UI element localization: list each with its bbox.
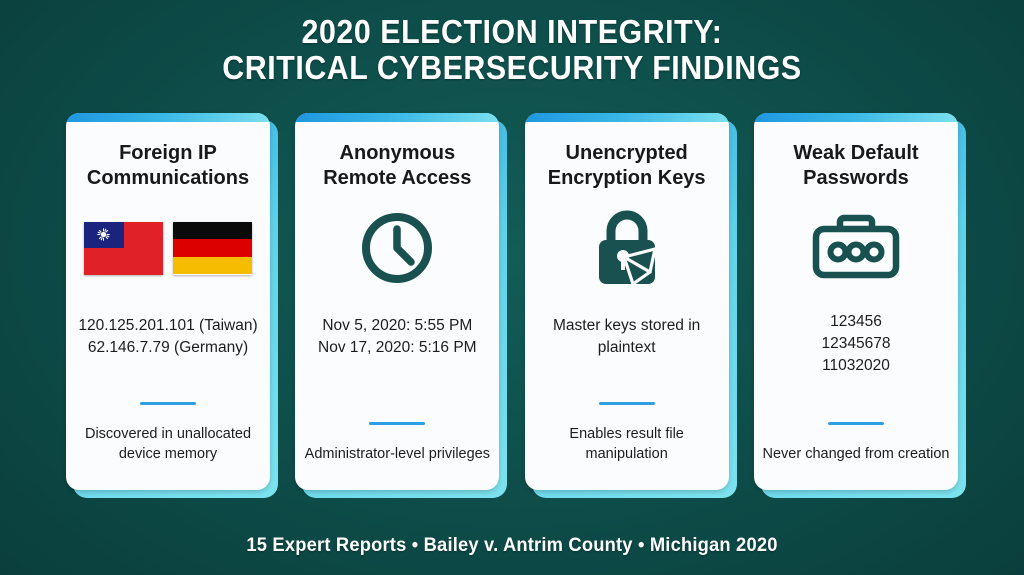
findings-card-grid: Foreign IP Communications [66, 113, 962, 498]
card-title: Anonymous Remote Access [301, 141, 493, 191]
card-data-lines: 123456 12345678 11032020 [758, 311, 954, 377]
clock-icon [359, 210, 435, 286]
card-accent-bar [66, 113, 270, 122]
card-data-lines: Nov 5, 2020: 5:55 PM Nov 17, 2020: 5:16 … [299, 315, 495, 359]
card-icon [754, 211, 958, 285]
footer-caption: 15 Expert Reports • Bailey v. Antrim Cou… [31, 534, 994, 557]
finding-card-weak-passwords: Weak Default Passwords 123456 12345678 1… [754, 113, 962, 498]
card-data-line: Nov 17, 2020: 5:16 PM [299, 337, 495, 359]
card-icon [295, 211, 499, 285]
card-icon [66, 211, 270, 285]
card-divider [599, 402, 655, 406]
card-divider [140, 402, 196, 406]
page-title-line-2: CRITICAL CYBERSECURITY FINDINGS [41, 50, 983, 86]
card-data-line: Nov 5, 2020: 5:55 PM [299, 315, 495, 337]
card-title: Foreign IP Communications [72, 141, 264, 191]
card-title: Weak Default Passwords [760, 141, 952, 191]
broken-lock-icon [594, 209, 660, 287]
card-note: Discovered in unallocated device memory [72, 424, 264, 464]
taiwan-flag-icon [84, 222, 163, 275]
card-note: Administrator-level privileges [301, 444, 493, 464]
card-note: Enables result file manipulation [531, 424, 723, 464]
page-title: 2020 ELECTION INTEGRITY: CRITICAL CYBERS… [0, 14, 1024, 86]
card-accent-bar [525, 113, 729, 122]
card-data-line: Master keys stored in plaintext [529, 315, 725, 359]
germany-flag-band-red [173, 239, 252, 257]
card-accent-bar [754, 113, 958, 122]
card-data-line: 12345678 [758, 333, 954, 355]
taiwan-sun-glyph [97, 228, 110, 241]
card-body: Anonymous Remote Access Nov 5, 2020: 5:5… [295, 113, 499, 490]
finding-card-foreign-ip: Foreign IP Communications [66, 113, 274, 498]
germany-flag-band-gold [173, 257, 252, 275]
germany-flag-band-black [173, 222, 252, 240]
card-note: Never changed from creation [760, 444, 952, 464]
card-data-lines: 120.125.201.101 (Taiwan) 62.146.7.79 (Ge… [70, 315, 266, 359]
card-accent-bar [295, 113, 499, 122]
card-icon [525, 211, 729, 285]
card-title: Unencrypted Encryption Keys [531, 141, 723, 191]
page-title-line-1: 2020 ELECTION INTEGRITY: [41, 14, 983, 50]
card-divider [828, 422, 884, 426]
flags-taiwan-germany-icon [84, 222, 252, 275]
card-body: Unencrypted Encryption Keys [525, 113, 729, 490]
card-data-line: 120.125.201.101 (Taiwan) [70, 315, 266, 337]
card-data-lines: Master keys stored in plaintext [529, 315, 725, 359]
card-body: Foreign IP Communications [66, 113, 270, 490]
finding-card-anonymous-remote-access: Anonymous Remote Access Nov 5, 2020: 5:5… [295, 113, 503, 498]
keypad-icon [810, 213, 902, 283]
card-data-line: 11032020 [758, 355, 954, 377]
taiwan-flag-canton [84, 222, 124, 249]
finding-card-unencrypted-keys: Unencrypted Encryption Keys [525, 113, 733, 498]
germany-flag-icon [173, 222, 252, 275]
card-divider [369, 422, 425, 426]
card-body: Weak Default Passwords 123456 12345678 1… [754, 113, 958, 490]
card-data-line: 123456 [758, 311, 954, 333]
card-data-line: 62.146.7.79 (Germany) [70, 337, 266, 359]
